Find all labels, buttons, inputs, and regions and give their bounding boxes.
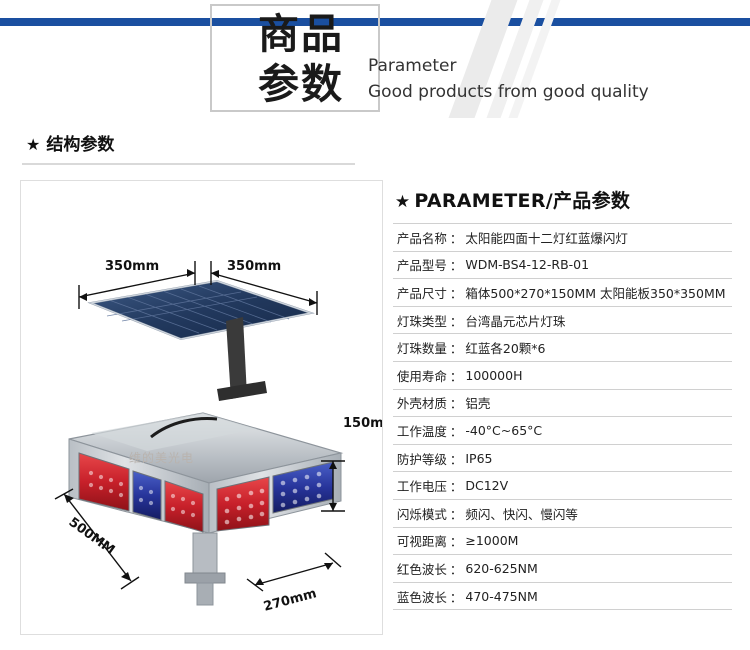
spec-key: 工作电压 bbox=[393, 476, 447, 495]
spec-separator: ： bbox=[447, 338, 466, 357]
table-row: 红色波长：620-625NM bbox=[393, 555, 732, 583]
spec-value: 100000H bbox=[465, 368, 522, 383]
spec-value: 铝壳 bbox=[465, 393, 490, 412]
table-row: 灯珠类型：台湾晶元芯片灯珠 bbox=[393, 307, 732, 335]
spec-value: 台湾晶元芯片灯珠 bbox=[465, 311, 565, 330]
table-row: 防护等级：IP65 bbox=[393, 445, 732, 473]
spec-separator: ： bbox=[447, 311, 466, 330]
section-divider bbox=[22, 163, 355, 165]
dimension-label-top-left: 350mm bbox=[105, 259, 159, 274]
spec-value: 箱体500*270*150MM 太阳能板350*350MM bbox=[465, 283, 725, 302]
header-chinese-title-line2: 参数 bbox=[258, 60, 344, 108]
spec-key: 使用寿命 bbox=[393, 366, 447, 385]
table-row: 闪烁模式：频闪、快闪、慢闪等 bbox=[393, 500, 732, 528]
spec-separator: ： bbox=[447, 587, 466, 606]
dimension-label-right: 150mm bbox=[343, 416, 383, 431]
header-chinese-title-line1: 商品 bbox=[258, 10, 344, 58]
spec-separator: ： bbox=[447, 255, 466, 274]
spec-separator: ： bbox=[447, 449, 466, 468]
header-english-subtitle: Good products from good quality bbox=[368, 82, 649, 102]
spec-separator: ： bbox=[447, 504, 466, 523]
table-row: 产品名称：太阳能四面十二灯红蓝爆闪灯 bbox=[393, 224, 732, 252]
spec-value: ≥1000M bbox=[465, 533, 518, 548]
spec-value: 红蓝各20颗*6 bbox=[465, 338, 545, 357]
star-icon: ★ bbox=[395, 192, 411, 212]
spec-heading-text: PARAMETER/产品参数 bbox=[414, 190, 630, 212]
spec-separator: ： bbox=[447, 228, 466, 247]
spec-separator: ： bbox=[447, 283, 466, 302]
spec-value: 太阳能四面十二灯红蓝爆闪灯 bbox=[465, 228, 628, 247]
star-icon: ★ bbox=[26, 135, 40, 154]
spec-value: 频闪、快闪、慢闪等 bbox=[465, 504, 578, 523]
spec-value: 470-475NM bbox=[465, 589, 537, 604]
structure-section-header: ★结构参数 bbox=[20, 126, 730, 165]
specification-panel: ★PARAMETER/产品参数 产品名称：太阳能四面十二灯红蓝爆闪灯产品型号：W… bbox=[393, 180, 732, 635]
product-image-panel: 350mm 350mm 150mm 500MM 270mm 维的美光电 bbox=[20, 180, 383, 635]
product-illustration bbox=[21, 181, 383, 634]
dimension-label-top-right: 350mm bbox=[227, 259, 281, 274]
spec-separator: ： bbox=[447, 421, 466, 440]
table-row: 外壳材质：铝壳 bbox=[393, 390, 732, 418]
spec-key: 闪烁模式 bbox=[393, 504, 447, 523]
table-row: 工作电压：DC12V bbox=[393, 472, 732, 500]
spec-separator: ： bbox=[447, 393, 466, 412]
header-chinese-title: 商品 参数 bbox=[258, 10, 344, 108]
spec-key: 产品名称 bbox=[393, 228, 447, 247]
table-row: 蓝色波长：470-475NM bbox=[393, 583, 732, 611]
spec-key: 可视距离 bbox=[393, 531, 447, 550]
spec-key: 红色波长 bbox=[393, 559, 447, 578]
spec-value: -40°C~65°C bbox=[465, 423, 542, 438]
table-row: 产品型号：WDM-BS4-12-RB-01 bbox=[393, 252, 732, 280]
spec-separator: ： bbox=[447, 531, 466, 550]
header-english-title: Parameter bbox=[368, 56, 456, 76]
spec-key: 工作温度 bbox=[393, 421, 447, 440]
table-row: 工作温度：-40°C~65°C bbox=[393, 417, 732, 445]
spec-separator: ： bbox=[447, 366, 466, 385]
spec-key: 产品型号 bbox=[393, 255, 447, 274]
spec-value: 620-625NM bbox=[465, 561, 537, 576]
table-row: 灯珠数量：红蓝各20颗*6 bbox=[393, 334, 732, 362]
spec-key: 灯珠数量 bbox=[393, 338, 447, 357]
watermark-text: 维的美光电 bbox=[129, 449, 194, 466]
table-row: 使用寿命：100000H bbox=[393, 362, 732, 390]
spec-separator: ： bbox=[447, 476, 466, 495]
spec-key: 外壳材质 bbox=[393, 393, 447, 412]
table-row: 可视距离：≥1000M bbox=[393, 528, 732, 556]
spec-key: 灯珠类型 bbox=[393, 311, 447, 330]
section-title-row: ★结构参数 bbox=[20, 126, 730, 163]
spec-separator: ： bbox=[447, 559, 466, 578]
spec-value: WDM-BS4-12-RB-01 bbox=[465, 257, 589, 272]
page-header: 商品 参数 Parameter Good products from good … bbox=[0, 0, 750, 118]
spec-value: IP65 bbox=[465, 451, 492, 466]
spec-value: DC12V bbox=[465, 478, 508, 493]
spec-heading: ★PARAMETER/产品参数 bbox=[393, 180, 732, 223]
spec-table: 产品名称：太阳能四面十二灯红蓝爆闪灯产品型号：WDM-BS4-12-RB-01产… bbox=[393, 223, 732, 610]
spec-key: 蓝色波长 bbox=[393, 587, 447, 606]
spec-key: 防护等级 bbox=[393, 449, 447, 468]
content-area: 350mm 350mm 150mm 500MM 270mm 维的美光电 ★PAR… bbox=[20, 180, 732, 635]
section-title-text: 结构参数 bbox=[46, 135, 114, 155]
table-row: 产品尺寸：箱体500*270*150MM 太阳能板350*350MM bbox=[393, 279, 732, 307]
spec-key: 产品尺寸 bbox=[393, 283, 447, 302]
